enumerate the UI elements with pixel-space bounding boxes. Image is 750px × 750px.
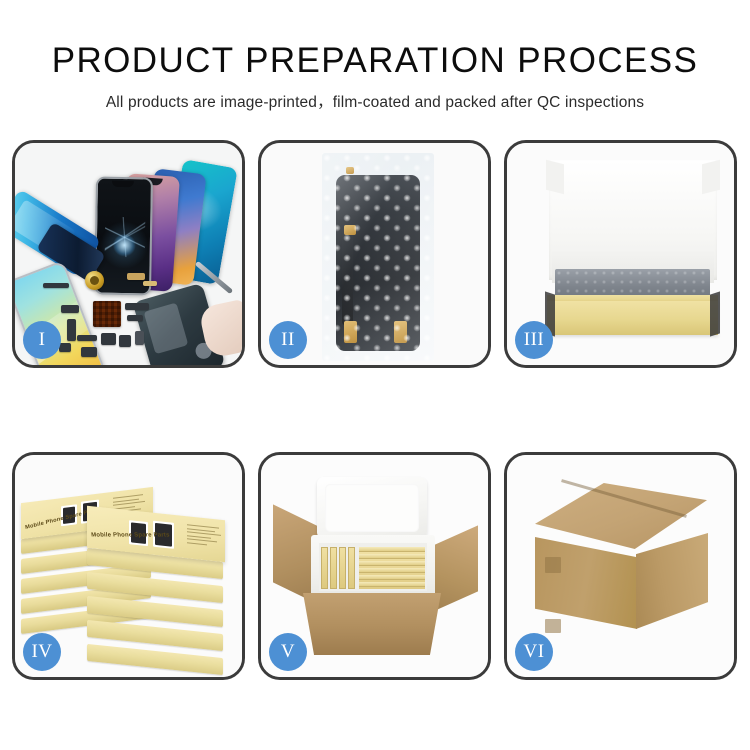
step-badge: II [269,321,307,359]
step-3-inner-box[interactable]: III [504,140,737,368]
step-2-bubble-wrap[interactable]: II [258,140,491,368]
step-1-products[interactable]: I [12,140,245,368]
product-preparation-infographic: PRODUCT PREPARATION PROCESS All products… [0,0,750,750]
step-badge: I [23,321,61,359]
box-label: Mobile Phone Spare Parts [91,532,170,538]
process-steps-grid: I II [12,140,738,680]
step-badge: IV [23,633,61,671]
header: PRODUCT PREPARATION PROCESS All products… [0,0,750,112]
step-badge: VI [515,633,553,671]
step-badge: III [515,321,553,359]
step-6-sealed-carton[interactable]: VI [504,452,737,680]
page-subtitle: All products are image-printed，film-coat… [0,90,750,112]
page-title: PRODUCT PREPARATION PROCESS [0,40,750,82]
step-5-foam-carton[interactable]: V [258,452,491,680]
step-badge: V [269,633,307,671]
step-4-stacked-boxes[interactable]: Mobile Phone Spare Parts Mobile Phone Sp… [12,452,245,680]
